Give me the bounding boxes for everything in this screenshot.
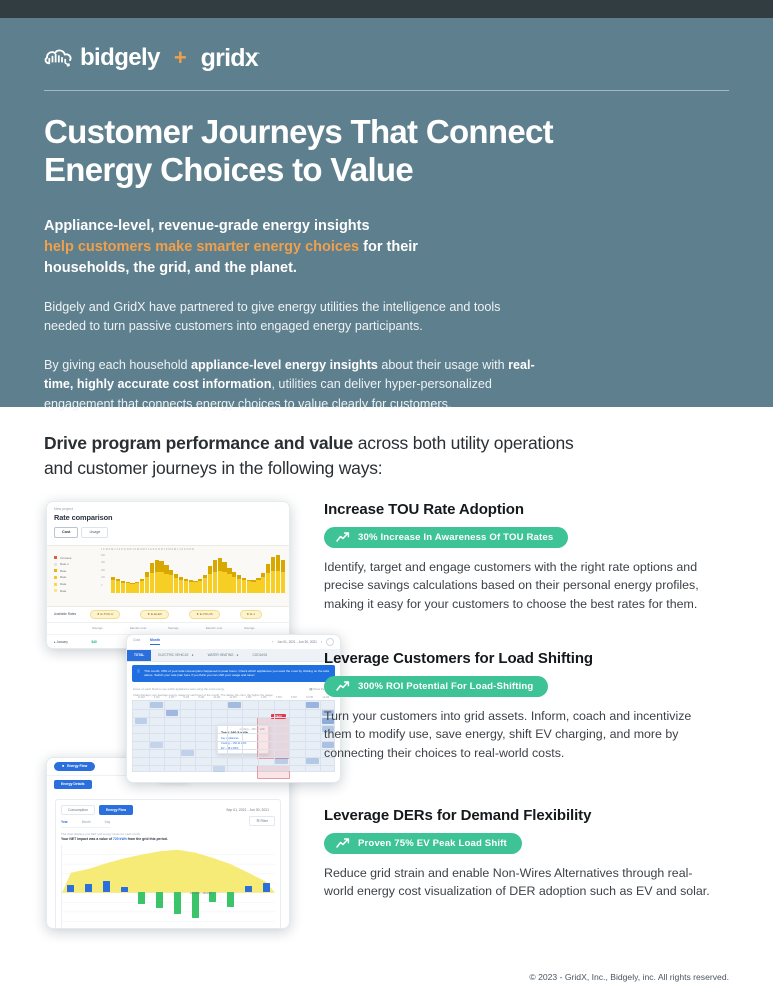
s3-date-range[interactable]: Sep 01, 2021 - Jun 30, 2021: [220, 806, 275, 814]
bar-cap: [169, 570, 173, 576]
bar-cap: [237, 575, 241, 578]
feature-title: Leverage Customers for Load Shifting: [324, 650, 724, 667]
next-arrow-icon[interactable]: ›: [321, 640, 322, 644]
screenshot-rate-comparison[interactable]: New project Rate comparison Cost Usage I…: [46, 501, 290, 649]
bar-cap: [222, 562, 226, 572]
grid-line: [258, 701, 259, 771]
bar-cap: [227, 568, 231, 575]
p2-part-a: By giving each household: [44, 358, 191, 372]
nav-total[interactable]: TOTAL: [127, 650, 151, 661]
s2-hour-labels: 12 AM2 AM4 AM6 AM8 AM10 AM12 PM2 PM4 PM6…: [133, 696, 334, 699]
bar: [184, 579, 188, 593]
hour-label: 2 AM: [154, 696, 159, 699]
bar-cap: [179, 577, 183, 580]
s1-plot: J F M A M J J A S O N D J F M A M J J A …: [99, 546, 289, 606]
s3-bar-series: [62, 845, 275, 929]
bar: [116, 579, 120, 593]
s1-header: New project Rate comparison Cost Usage: [47, 502, 289, 541]
bar-cap: [247, 580, 251, 582]
s3-chart: Jan 2021 – 120 kWh: [61, 845, 275, 929]
legend-item: Rate: [54, 582, 99, 586]
hour-label: 4 PM: [261, 696, 267, 699]
bar: [121, 887, 128, 892]
hour-label: 8 PM: [291, 696, 297, 699]
bar-cap: [261, 573, 265, 577]
s3-data-tooltip: Jan 2021 – 120 kWh: [190, 892, 212, 895]
subtab-day[interactable]: Day: [105, 820, 111, 824]
bar-cap: [189, 580, 193, 582]
hour-label: 6 AM: [184, 696, 189, 699]
nav-water-heating[interactable]: WATER HEATING ●: [201, 650, 246, 661]
plus-symbol: +: [174, 47, 187, 69]
bar: [169, 570, 173, 593]
bar: [222, 562, 226, 592]
subheading-after-accent: for their: [359, 239, 418, 255]
legend-item: Rate: [54, 575, 99, 579]
hour-label: 6 PM: [276, 696, 282, 699]
bar: [174, 892, 181, 914]
hour-label: 12 PM: [230, 696, 237, 699]
bar-cap: [130, 583, 134, 584]
page-title: Customer Journeys That Connect Energy Ch…: [44, 113, 644, 190]
bar: [159, 561, 163, 593]
s2-note-text: Hover on each block to see which applian…: [133, 687, 224, 691]
subtab-year[interactable]: Year: [61, 820, 68, 824]
s3-segment-group[interactable]: Consumption Energy Flow: [61, 805, 133, 815]
legend-swatch: [54, 556, 57, 559]
s1-legend: Increase Rate 1 Rate Rate Rate Rate: [47, 546, 99, 606]
legend-swatch: [54, 569, 57, 572]
feature-title: Increase TOU Rate Adoption: [324, 501, 724, 518]
bar-cap: [232, 572, 236, 577]
bar-cap: [150, 563, 154, 572]
heatmap-cell[interactable]: [166, 710, 179, 716]
bar-cap: [198, 579, 202, 581]
s3-caption: This chart displays your NET grid energy…: [61, 832, 275, 836]
bar: [263, 883, 270, 893]
grid-line: [149, 701, 150, 771]
nav-electric-vehicle[interactable]: ELECTRIC VEHICLE ●: [151, 650, 200, 661]
bar: [245, 886, 252, 893]
col-header-cost: Electric cost: [130, 626, 168, 630]
status-badge: Proven 75% EV Peak Load Shift: [324, 833, 522, 854]
s1-chart-area: Increase Rate 1 Rate Rate Rate Rate J F …: [47, 545, 289, 607]
heatmap-cell[interactable]: [181, 750, 194, 756]
bar: [203, 575, 207, 593]
col-header-savings: Savings: [168, 626, 206, 630]
bar: [218, 558, 222, 593]
s1-tab-group[interactable]: Cost Usage: [54, 527, 282, 538]
bar: [242, 578, 246, 593]
grid-line: [227, 701, 228, 771]
bar: [135, 582, 139, 593]
bar-cap: [193, 581, 197, 583]
bar-cap: [126, 582, 130, 583]
s1-tab-usage[interactable]: Usage: [81, 527, 108, 538]
bar-cap: [135, 582, 139, 583]
feature-title: Leverage DERs for Demand Flexibility: [324, 807, 724, 824]
legend-label: Rate: [60, 582, 66, 586]
bar: [227, 568, 231, 593]
feature-ders-demand-flexibility: Leverage DERs for Demand Flexibility Pro…: [324, 807, 724, 901]
grid-line: [289, 701, 290, 771]
s3-segment-row: Consumption Energy Flow Sep 01, 2021 - J…: [61, 805, 275, 815]
bar-cap: [140, 579, 144, 581]
bar-cap: [256, 578, 260, 580]
bar: [179, 577, 183, 593]
bar: [192, 892, 199, 917]
bar: [103, 881, 110, 892]
grid-line: [195, 701, 196, 771]
hour-label: 12 AM: [138, 696, 145, 699]
grid-line: [242, 701, 243, 771]
heatmap-cell[interactable]: [306, 702, 319, 708]
header-divider: [44, 90, 729, 91]
bar-cap: [184, 579, 188, 581]
bar: [256, 578, 260, 593]
bar-cap: [242, 578, 246, 580]
bar-cap: [281, 560, 285, 572]
subtab-month[interactable]: Month: [82, 820, 91, 824]
bar-cap: [213, 560, 217, 572]
bar-cap: [145, 572, 149, 577]
grid-line: [180, 701, 181, 771]
heatmap-cell[interactable]: [213, 766, 226, 772]
rate-pill[interactable]: ★ E-1: [240, 610, 262, 619]
info-icon: ⓘ: [137, 669, 140, 678]
status-badge: 30% Increase In Awareness Of TOU Rates: [324, 527, 568, 548]
hero-paragraph-2: By giving each household appliance-level…: [44, 356, 536, 415]
bar: [251, 580, 255, 593]
hero-paragraph-1: Bidgely and GridX have partnered to give…: [44, 298, 536, 337]
legend-item: Rate: [54, 589, 99, 593]
status-badge: 300% ROI Potential For Load-Shifting: [324, 676, 548, 697]
bar: [213, 560, 217, 593]
bar-cap: [121, 581, 125, 582]
rate-pill[interactable]: ★ E-TOU-C: [90, 610, 120, 619]
legend-item: Increase: [54, 556, 99, 560]
bar: [232, 572, 236, 593]
s1-bar-series: [99, 551, 285, 593]
footer-copyright: © 2023 - GridX, Inc., Bidgely, inc. All …: [0, 972, 773, 982]
bar: [155, 560, 159, 593]
nav-cooling[interactable]: COOLING: [245, 650, 274, 661]
bar: [281, 560, 285, 593]
badge-label: 300% ROI Potential For Load-Shifting: [358, 681, 533, 692]
bar: [276, 555, 280, 593]
legend-label: Rate: [60, 575, 66, 579]
s2-heatmap-grid[interactable]: 12 AM2 AM4 AM6 AM8 AM10 AM12 PM2 PM4 PM6…: [132, 700, 335, 772]
trend-up-arrow-icon: [336, 838, 350, 848]
badge-label: 30% Increase In Awareness Of TOU Rates: [358, 532, 553, 543]
hour-label: 4 AM: [169, 696, 174, 699]
legend-label: Rate: [60, 569, 66, 573]
p2-part-c: about their usage with: [378, 358, 508, 372]
bar: [140, 579, 144, 593]
bar: [67, 885, 74, 892]
bar: [261, 573, 265, 593]
trademark-mark: ·: [258, 49, 260, 58]
trend-up-arrow-icon: [336, 681, 350, 691]
legend-label: Rate 1: [60, 562, 69, 566]
s3-subtabs[interactable]: Year Month Day: [61, 820, 110, 828]
feature-body: Identify, target and engage customers wi…: [324, 558, 719, 614]
trend-up-arrow-icon: [336, 532, 350, 542]
col-header-savings: Savings: [244, 626, 282, 630]
bar: [126, 582, 130, 593]
s1-y-axis-labels: 400 300 200 100 0: [101, 552, 105, 590]
col-header-cost: Electric cost: [206, 626, 244, 630]
s2-note-row: Hover on each block to see which applian…: [127, 685, 340, 693]
bar: [145, 572, 149, 593]
heatmap-cell[interactable]: [228, 702, 241, 708]
bar: [130, 583, 134, 593]
bar-cap: [251, 580, 255, 582]
feature-region: New project Rate comparison Cost Usage I…: [44, 501, 729, 946]
s3-panel: Consumption Energy Flow Sep 01, 2021 - J…: [55, 799, 281, 929]
bar-cap: [271, 557, 275, 571]
s2-tab-cost[interactable]: Cost: [133, 638, 140, 645]
bar: [227, 892, 234, 906]
bar: [164, 565, 168, 592]
row-savings: $40: [92, 640, 130, 644]
bar-cap: [266, 564, 270, 573]
section-lead: Drive program performance and value acro…: [44, 431, 574, 481]
subheading-accent: help customers make smarter energy choic…: [44, 239, 359, 255]
col-header-savings: Savings: [92, 626, 130, 630]
legend-item: Rate: [54, 569, 99, 573]
s2-date-range-control[interactable]: ‹ Jun 01, 2021 - Jun 30, 2021 ›: [272, 638, 334, 646]
s3-subtab-row: Year Month Day ☰ Filter: [61, 815, 275, 828]
bar: [138, 892, 145, 903]
segment-consumption[interactable]: Consumption: [61, 805, 95, 815]
hero-subheading: Appliance-level, revenue-grade energy in…: [44, 216, 514, 279]
s2-date-range-label: Jun 01, 2021 - Jun 30, 2021: [277, 640, 317, 644]
heatmap-cell[interactable]: [150, 702, 163, 708]
bar: [198, 579, 202, 593]
s2-tab-month[interactable]: Month: [150, 638, 160, 645]
s2-banner-text: This month, 20% of your total consumptio…: [144, 669, 330, 678]
s2-topbar: Cost Month ‹ Jun 01, 2021 - Jun 30, 2021…: [127, 635, 340, 650]
legend-label: Increase: [60, 556, 72, 560]
brand-logo-lockup: bidgely + gridx·: [44, 40, 729, 76]
bar-cap: [208, 566, 212, 574]
hour-label: 10 PM: [306, 696, 313, 699]
bar: [174, 574, 178, 593]
bar: [266, 564, 270, 592]
rate-pill[interactable]: ★ E-ELEC: [140, 610, 169, 619]
bar: [189, 580, 193, 593]
bar: [121, 581, 125, 593]
row-name: ▸ January: [54, 640, 92, 644]
grid-line: [211, 701, 212, 771]
subheading-line-3: households, the grid, and the planet.: [44, 260, 297, 276]
legend-label: Rate: [60, 589, 66, 593]
bar-cap: [218, 558, 222, 571]
heatmap-cell[interactable]: [306, 758, 319, 764]
bar-cap: [116, 579, 120, 581]
legend-swatch: [54, 589, 57, 592]
bar: [271, 557, 275, 593]
hour-label: 8 AM: [199, 696, 204, 699]
subheading-line-1: Appliance-level, revenue-grade energy in…: [44, 218, 370, 234]
feature-body: Reduce grid strain and enable Non-Wires …: [324, 864, 719, 901]
s3-caption-bold: Your NET impact was a value of 720 kWh f…: [61, 837, 275, 841]
filter-icon[interactable]: [326, 638, 334, 646]
s1-tab-cost[interactable]: Cost: [54, 527, 78, 538]
s2-appliance-nav[interactable]: TOTAL ELECTRIC VEHICLE ● WATER HEATING ●…: [127, 650, 340, 662]
bar: [208, 566, 212, 592]
bar-cap: [155, 560, 159, 572]
energy-flow-chip[interactable]: ■ Energy Flow: [54, 762, 95, 771]
rate-pill[interactable]: ★ E-TOU-B: [189, 610, 219, 619]
s2-info-banner: ⓘ This month, 20% of your total consumpt…: [132, 665, 335, 682]
bar: [156, 892, 163, 908]
s1-available-rates-row: Available Rates ★ E-TOU-C ★ E-ELEC ★ E-T…: [47, 607, 289, 623]
p2-bold-1: appliance-level energy insights: [191, 358, 378, 372]
s1-title: Rate comparison: [54, 513, 282, 522]
legend-swatch: [54, 583, 57, 586]
bar: [111, 577, 115, 593]
legend-item: Rate 1: [54, 562, 99, 566]
bar-cap: [203, 575, 207, 578]
bar: [150, 563, 154, 592]
bar-cap: [164, 565, 168, 573]
bidgely-wordmark: bidgely: [80, 46, 160, 70]
s1-available-rates-label: Available Rates: [54, 612, 90, 616]
hour-label: 2 PM: [246, 696, 252, 699]
bar-cap: [111, 577, 115, 580]
bar: [85, 884, 92, 892]
s3-caption-link[interactable]: 720 kWh: [113, 837, 127, 841]
screenshot-heatmap-dashboard[interactable]: Cost Month ‹ Jun 01, 2021 - Jun 30, 2021…: [126, 634, 341, 783]
bar: [193, 581, 197, 593]
legend-swatch: [54, 563, 57, 566]
filter-button[interactable]: ☰ Filter: [249, 816, 275, 826]
bar: [247, 580, 251, 593]
feature-load-shifting: Leverage Customers for Load Shifting 300…: [324, 650, 724, 763]
bar: [237, 575, 241, 592]
heatmap-cell[interactable]: [135, 718, 148, 724]
badge-label: Proven 75% EV Peak Load Shift: [358, 838, 507, 849]
lead-bold: Drive program performance and value: [44, 433, 353, 453]
prev-arrow-icon[interactable]: ‹: [272, 640, 273, 644]
bar-cap: [276, 555, 280, 571]
bar-cap: [174, 574, 178, 578]
legend-swatch: [54, 576, 57, 579]
hour-label: 10 AM: [213, 696, 220, 699]
bidgely-cloud-bars-icon: [44, 47, 74, 69]
s1-breadcrumb[interactable]: New project: [54, 507, 282, 511]
hero-header: bidgely + gridx· Customer Journeys That …: [0, 18, 773, 407]
heatmap-cell[interactable]: [275, 758, 288, 764]
top-dark-strip: [0, 0, 773, 18]
s2-tab-group[interactable]: Cost Month: [133, 638, 160, 645]
feature-body: Turn your customers into grid assets. In…: [324, 707, 719, 763]
segment-energy-flow[interactable]: Energy Flow: [99, 805, 133, 815]
body-section: Drive program performance and value acro…: [0, 407, 773, 946]
gridx-wordmark: gridx·: [201, 46, 260, 71]
energy-details-chip[interactable]: Energy Details: [54, 780, 92, 789]
heatmap-cell[interactable]: [150, 742, 163, 748]
s1-column-header-row: Savings Electric cost Savings Electric c…: [47, 623, 289, 634]
bar-cap: [159, 561, 163, 572]
feature-tou-rate-adoption: Increase TOU Rate Adoption 30% Increase …: [324, 501, 724, 614]
